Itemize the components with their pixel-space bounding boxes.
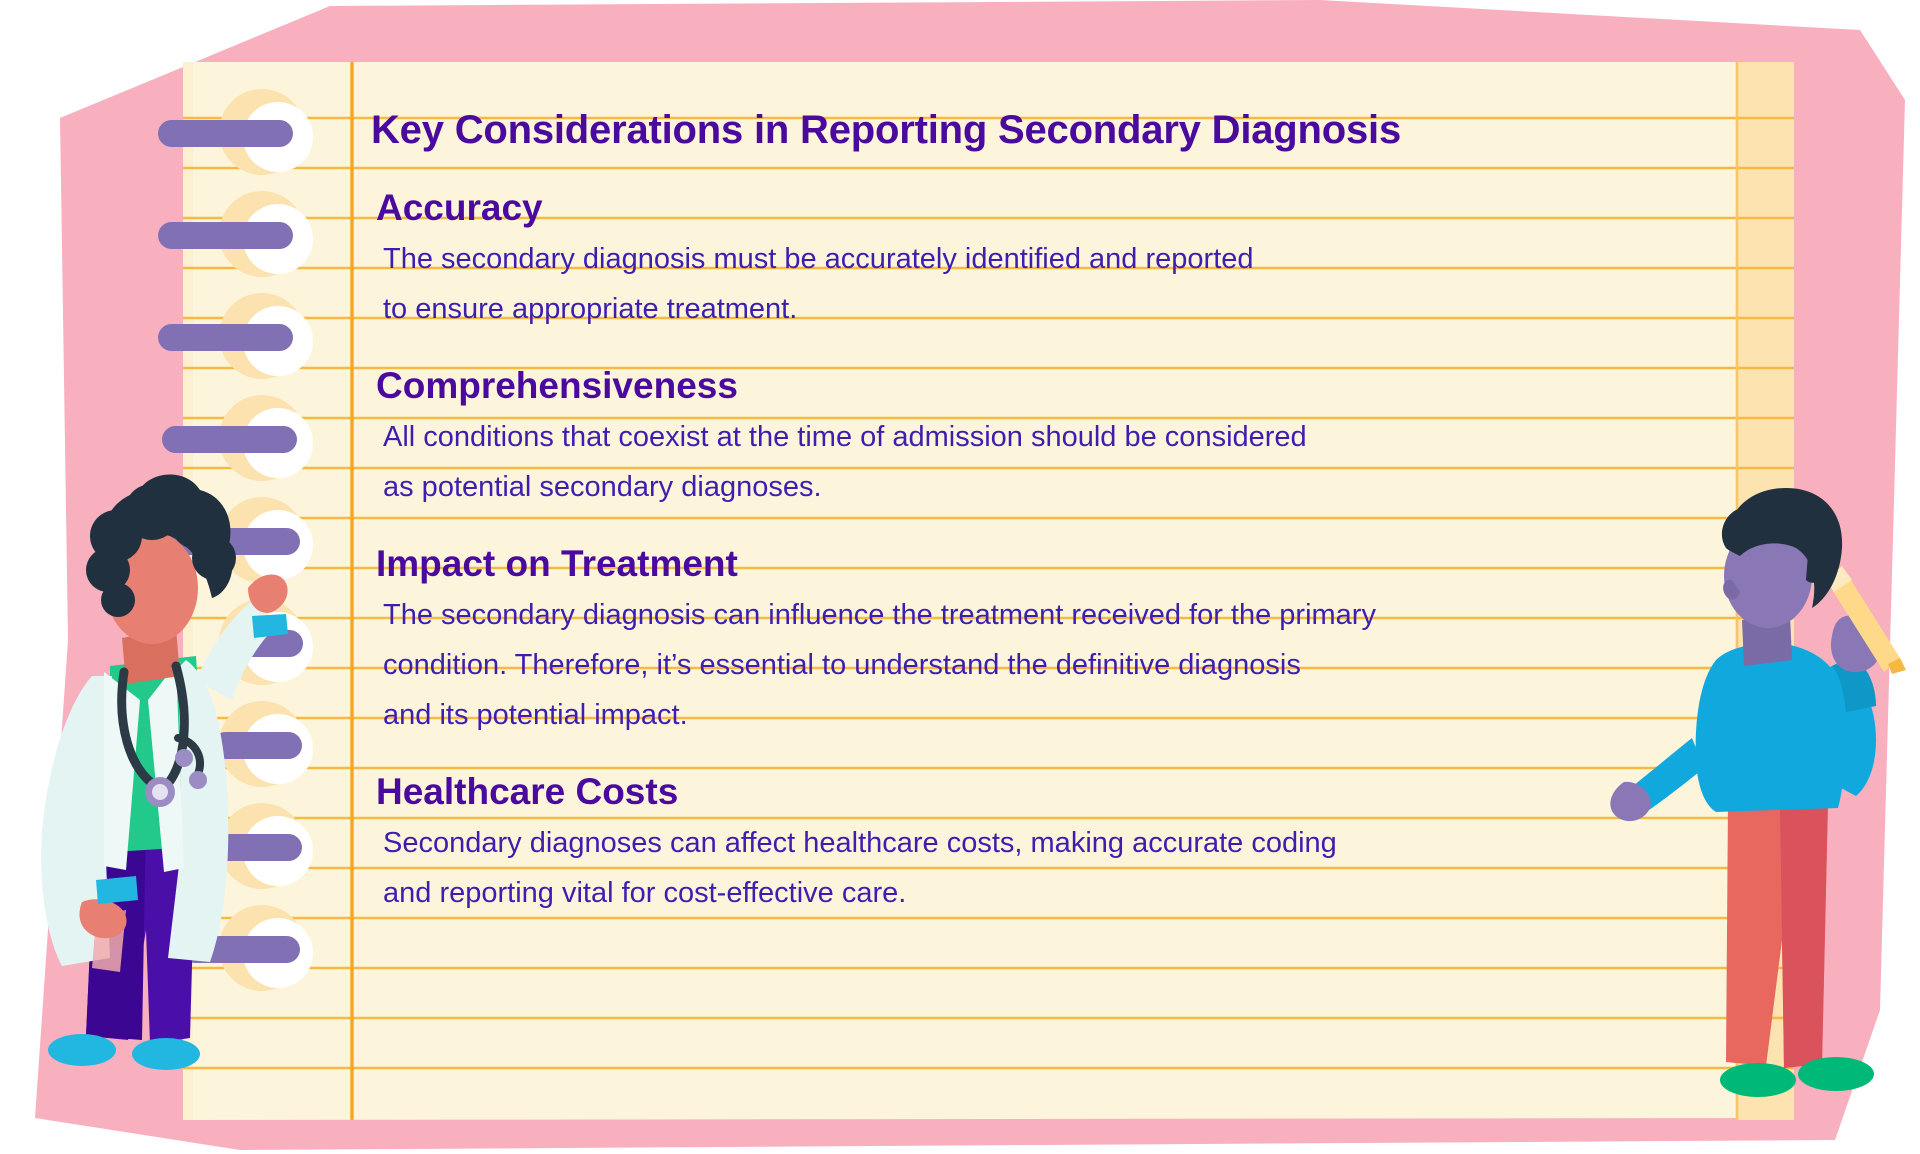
page-title: Key Considerations in Reporting Secondar…: [371, 104, 1382, 156]
section-body-line: condition. Therefore, it’s essential to …: [383, 640, 1382, 690]
section-body: The secondary diagnosis can influence th…: [383, 590, 1382, 740]
infographic-poster: Key Considerations in Reporting Secondar…: [0, 0, 1920, 1154]
section-impact-on-treatment: Impact on Treatment The secondary diagno…: [372, 538, 1382, 740]
section-body: Secondary diagnoses can affect healthcar…: [383, 818, 1382, 918]
section-body-line: The secondary diagnosis must be accurate…: [383, 234, 1382, 284]
section-body-line: All conditions that coexist at the time …: [383, 412, 1382, 462]
section-comprehensiveness: Comprehensiveness All conditions that co…: [372, 360, 1382, 512]
section-body-line: Secondary diagnoses can affect healthcar…: [383, 818, 1382, 868]
section-body-line: The secondary diagnosis can influence th…: [383, 590, 1382, 640]
section-heading: Impact on Treatment: [376, 538, 1382, 590]
section-heading: Comprehensiveness: [376, 360, 1382, 412]
section-body: The secondary diagnosis must be accurate…: [383, 234, 1382, 334]
section-body: All conditions that coexist at the time …: [383, 412, 1382, 512]
section-body-line: and reporting vital for cost-effective c…: [383, 868, 1382, 918]
notepad-content: Key Considerations in Reporting Secondar…: [372, 104, 1382, 1084]
section-body-line: as potential secondary diagnoses.: [383, 462, 1382, 512]
section-body-line: and its potential impact.: [383, 690, 1382, 740]
section-heading: Accuracy: [376, 182, 1382, 234]
section-accuracy: Accuracy The secondary diagnosis must be…: [372, 182, 1382, 334]
section-body-line: to ensure appropriate treatment.: [383, 284, 1382, 334]
section-heading: Healthcare Costs: [376, 766, 1382, 818]
section-healthcare-costs: Healthcare Costs Secondary diagnoses can…: [372, 766, 1382, 918]
